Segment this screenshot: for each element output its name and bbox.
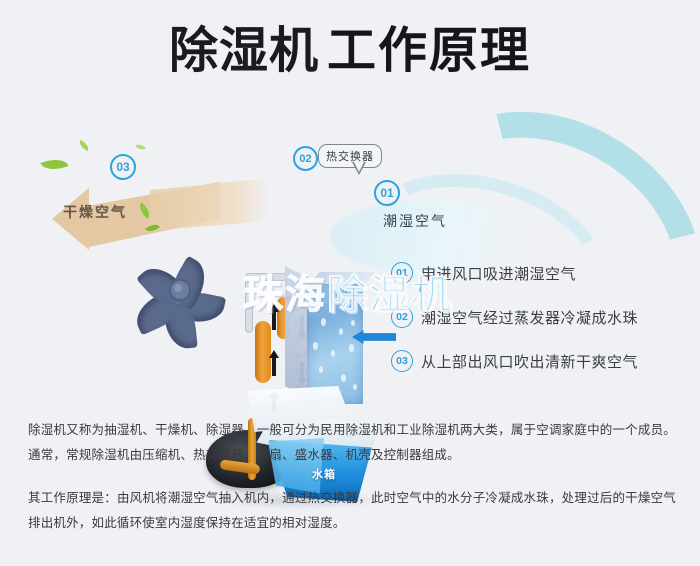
diagram-badge-03: 03 [110,154,136,180]
humid-air-label: 潮湿空气 [383,211,447,231]
heat-exchanger-callout: 热交换器 [318,144,382,168]
step-badge: 01 [391,262,413,284]
leaf-icon [77,140,91,152]
dry-air-arrow-tail-icon [150,178,270,233]
list-item: 03 从上部出风口吹出清新干爽空气 [391,343,691,379]
step-text: 潮湿空气经过蒸发器冷凝成水珠 [421,307,638,328]
step-list: 01 申进风口吸进潮湿空气 02 潮湿空气经过蒸发器冷凝成水珠 03 从上部出风… [391,255,691,387]
page-title: 除湿机工作原理 [0,26,700,75]
description-paragraph-1: 除湿机又称为抽湿机、干燥机、除湿器，一般可分为民用除湿机和工业除湿机两大类，属于… [28,418,676,468]
list-item: 01 申进风口吸进潮湿空气 [391,255,691,291]
step-badge: 02 [391,306,413,328]
step-text: 从上部出风口吹出清新干爽空气 [421,351,638,372]
infographic-page: 除湿机工作原理 [0,0,700,566]
callout-pointer-inner-icon [354,162,364,172]
page-title-part2: 工作原理 [327,22,531,79]
description-paragraph-2: 其工作原理是：由风机将潮湿空气抽入机内，通过热交换器，此时空气中的水分子冷凝成水… [28,486,676,536]
step-badge: 03 [391,350,413,372]
page-title-part1: 除湿机 [169,22,319,79]
heat-exchanger-fins-icon [307,284,363,404]
leaf-icon [40,154,68,175]
list-item: 02 潮湿空气经过蒸发器冷凝成水珠 [391,299,691,335]
water-tank-label: 水箱 [312,466,336,482]
leaf-icon [135,143,145,151]
step-text: 申进风口吸进潮湿空气 [421,263,576,284]
dry-air-label: 干燥空气 [63,202,127,222]
heat-exchanger-side [285,266,309,398]
diagram-badge-01: 01 [374,180,400,206]
diagram-badge-02: 02 [293,146,318,171]
